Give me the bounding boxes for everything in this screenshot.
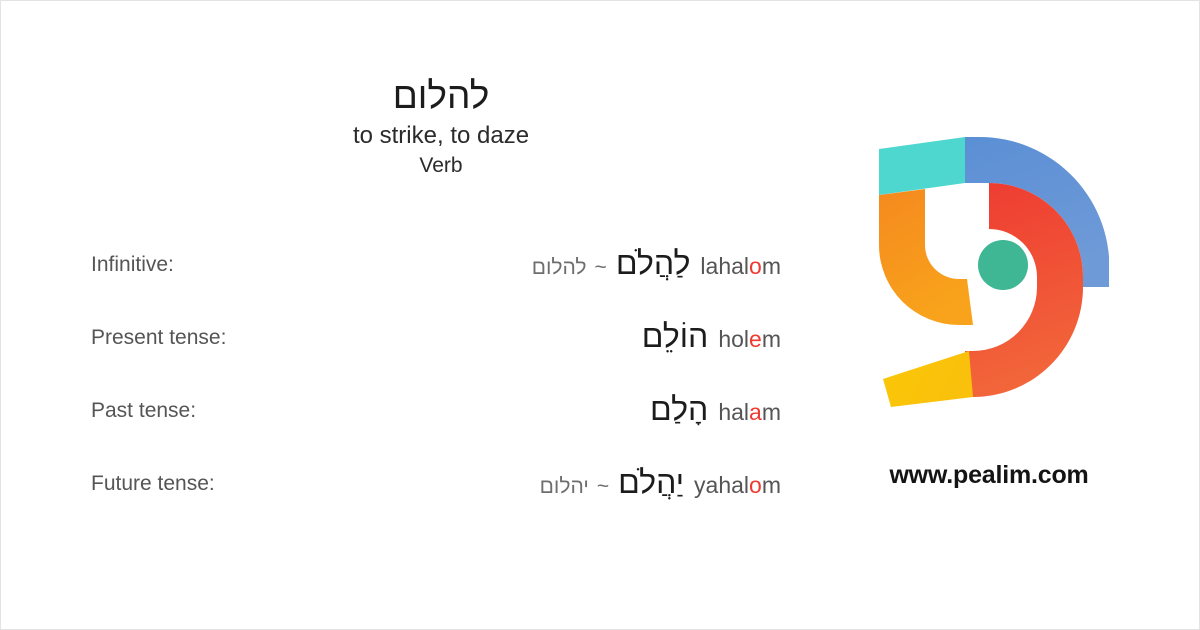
table-row-present: Present tense: הוֹלֵם holem [1, 312, 801, 385]
card-header: להלום to strike, to daze Verb [81, 73, 801, 180]
translit-post: m [762, 399, 781, 425]
vocalized-hebrew-form: לַהֲלֹם [616, 243, 691, 283]
page-title-hebrew: להלום [81, 73, 801, 119]
conjugation-table: Infinitive: להלום ~ לַהֲלֹם lahalom Pres… [1, 239, 801, 531]
pealim-logo-icon [869, 127, 1109, 407]
vocalized-hebrew-form: הוֹלֵם [642, 316, 709, 356]
translit-stressed-vowel: a [749, 399, 762, 425]
translit-pre: yahal [694, 472, 749, 498]
transliteration: yahalom [694, 469, 781, 501]
table-row-infinitive: Infinitive: להלום ~ לַהֲלֹם lahalom [1, 239, 801, 312]
part-of-speech: Verb [81, 152, 801, 180]
row-forms: להלום ~ לַהֲלֹם lahalom [532, 243, 781, 285]
transliteration: halam [718, 396, 781, 428]
verb-card: להלום to strike, to daze Verb Infinitive… [0, 0, 1200, 630]
tilde-separator: ~ [595, 251, 607, 285]
logo-segment-orange [879, 189, 973, 325]
logo-dot-green [978, 240, 1028, 290]
translit-post: m [762, 472, 781, 498]
translit-stressed-vowel: o [749, 472, 762, 498]
translit-stressed-vowel: e [749, 326, 762, 352]
verb-meaning: to strike, to daze [81, 121, 801, 151]
row-label: Future tense: [91, 470, 215, 498]
vocalized-hebrew-form: הָלַם [650, 389, 708, 429]
row-forms: הָלַם halam [633, 389, 781, 429]
translit-post: m [762, 326, 781, 352]
site-url: www.pealim.com [869, 459, 1109, 491]
vocalized-hebrew-form: יַהֲלֹם [618, 462, 684, 502]
plain-hebrew-form: להלום [532, 251, 587, 285]
translit-pre: hal [718, 399, 749, 425]
row-forms: הוֹלֵם holem [625, 316, 781, 356]
translit-post: m [762, 253, 781, 279]
row-label: Infinitive: [91, 251, 174, 279]
plain-hebrew-form: יהלום [540, 470, 589, 504]
tilde-separator: ~ [597, 470, 609, 504]
row-forms: יהלום ~ יַהֲלֹם yahalom [540, 462, 781, 504]
table-row-past: Past tense: הָלַם halam [1, 385, 801, 458]
row-label: Past tense: [91, 397, 196, 425]
transliteration: lahalom [700, 250, 781, 282]
translit-stressed-vowel: o [749, 253, 762, 279]
transliteration: holem [718, 323, 781, 355]
translit-pre: lahal [700, 253, 749, 279]
translit-pre: hol [718, 326, 749, 352]
row-label: Present tense: [91, 324, 226, 352]
logo-segment-teal [879, 137, 965, 195]
table-row-future: Future tense: יהלום ~ יַהֲלֹם yahalom [1, 458, 801, 531]
logo-segment-yellow [883, 351, 973, 407]
